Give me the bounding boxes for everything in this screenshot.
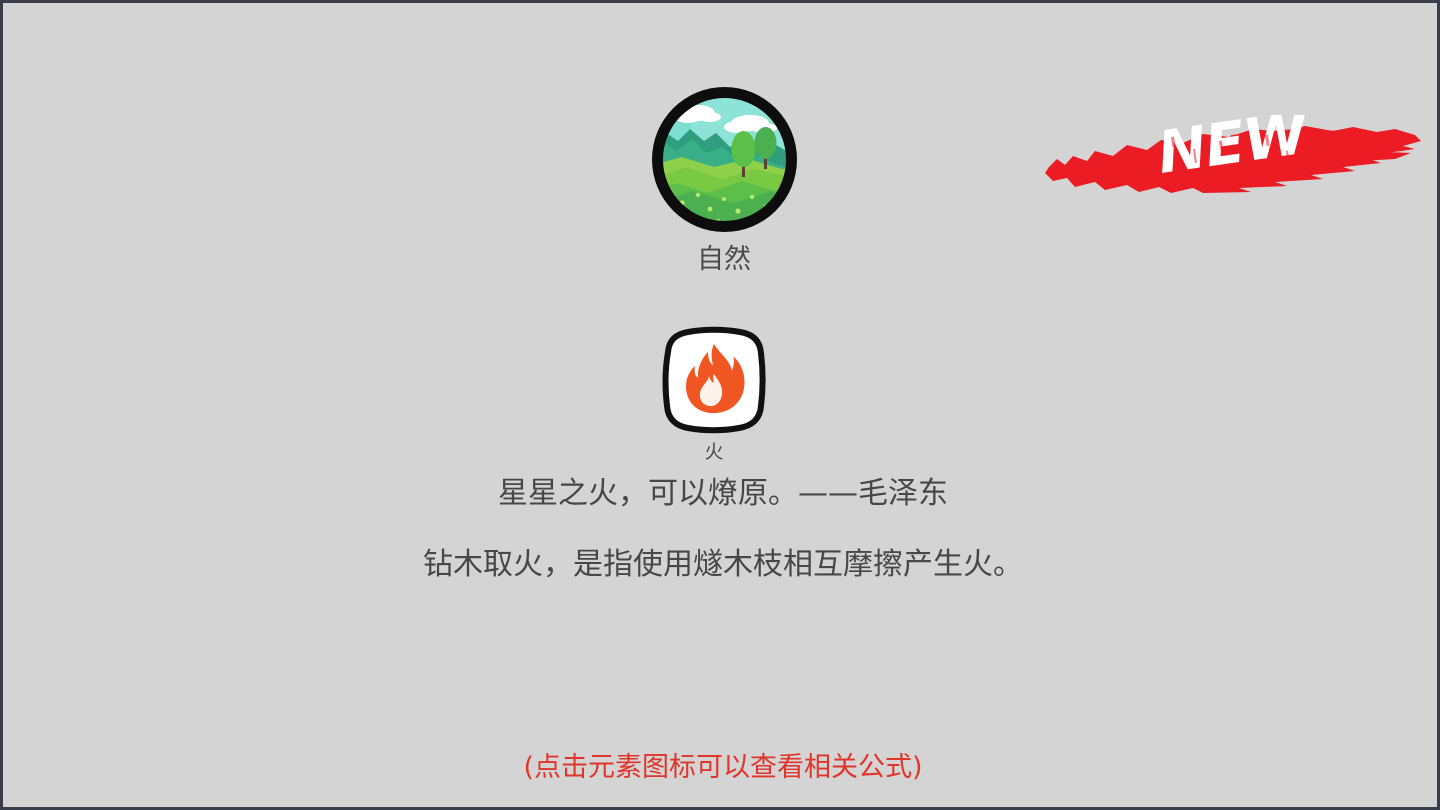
- element-label-nature: 自然: [624, 246, 824, 273]
- element-label-fire: 火: [614, 443, 814, 462]
- app-window: NEW: [0, 0, 1440, 810]
- description-line-quote: 星星之火，可以燎原。——毛泽东: [3, 477, 1440, 510]
- nature-landscape-icon[interactable]: [652, 87, 797, 232]
- element-stack: 自然 火: [3, 3, 1440, 810]
- description-block: 星星之火，可以燎原。——毛泽东 钻木取火，是指使用燧木枝相互摩擦产生火。: [3, 477, 1440, 581]
- flame-icon[interactable]: [660, 326, 768, 434]
- element-node-fire[interactable]: 火: [614, 326, 814, 462]
- formula-hint-text: (点击元素图标可以查看相关公式): [3, 745, 1440, 784]
- description-line-detail: 钻木取火，是指使用燧木枝相互摩擦产生火。: [3, 548, 1440, 581]
- element-node-nature[interactable]: 自然: [624, 87, 824, 273]
